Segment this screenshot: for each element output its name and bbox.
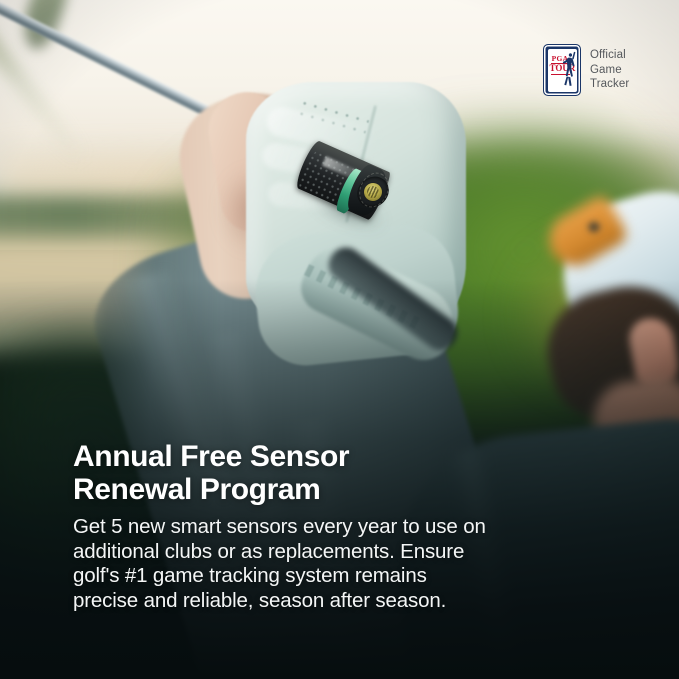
tagline-line-tracker: Tracker (590, 77, 629, 92)
page-title: Annual Free Sensor Renewal Program (73, 440, 613, 506)
body-copy: Get 5 new smart sensors every year to us… (73, 515, 613, 613)
body-line-2: additional clubs or as replacements. Ens… (73, 540, 613, 565)
headline-line-1: Annual Free Sensor (73, 440, 613, 473)
body-line-3: golf's #1 game tracking system remains (73, 564, 613, 589)
promo-copy-block: Annual Free Sensor Renewal Program Get 5… (73, 440, 613, 613)
pga-tour-official-game-tracker-lockup: PGA TOUR ® Official Game Tracker (543, 44, 629, 96)
official-game-tracker-tagline: Official Game Tracker (590, 48, 629, 92)
tagline-line-official: Official (590, 48, 629, 63)
golfer-swing-silhouette-icon (559, 50, 576, 90)
registered-trademark-mark: ® (580, 92, 581, 96)
shield-inner-field: PGA TOUR (547, 48, 578, 93)
pga-tour-shield-icon: PGA TOUR ® (543, 44, 581, 96)
body-line-1: Get 5 new smart sensors every year to us… (73, 515, 613, 540)
body-line-4: precise and reliable, season after seaso… (73, 589, 613, 614)
tagline-line-game: Game (590, 63, 629, 78)
headline-line-2: Renewal Program (73, 473, 613, 506)
promo-card: PGA TOUR ® Official Game Tracker Annual … (0, 0, 679, 679)
